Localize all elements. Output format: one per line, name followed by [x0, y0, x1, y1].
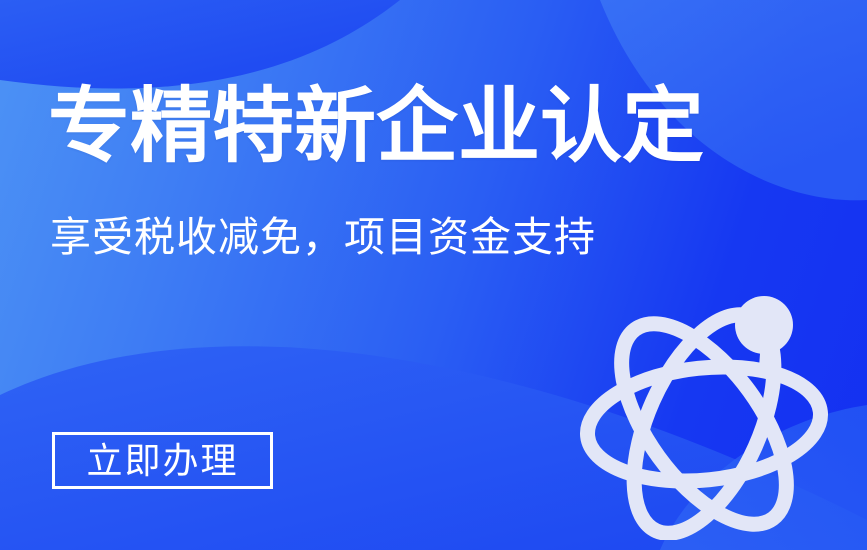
electron-dot	[735, 296, 793, 354]
atom-icon	[578, 288, 840, 540]
promo-banner: 专精特新企业认定 享受税收减免，项目资金支持 立即办理	[0, 0, 867, 550]
banner-subtitle: 享受税收减免，项目资金支持	[50, 208, 596, 266]
apply-now-button[interactable]: 立即办理	[52, 432, 273, 489]
banner-title: 专精特新企业认定	[48, 78, 704, 176]
